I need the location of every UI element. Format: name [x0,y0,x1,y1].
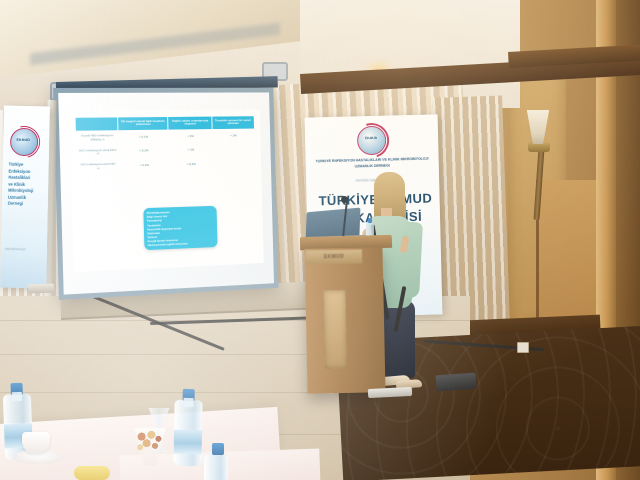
podium [304,247,385,394]
table-cell [213,157,255,172]
banner-left-base [28,284,54,294]
table-row-label: Kronik HBV enfeksiyonu (HBsAg +) [76,131,118,146]
water-bottle [173,400,202,466]
banner-left-line: Dernegi [8,201,44,208]
table-cell: < 1% [169,144,213,159]
banner-right-org: TÜRKIYE ENFEKSIYON HASTALIKLARI VE KLINI… [312,157,433,172]
banner-left-logo-text: EKMUD [13,138,33,142]
conference-room-photo: Bir bagisli olarak ilgili tesadufu bulun… [0,0,640,480]
banner-right-logo-text: EKMUD [360,136,382,141]
floor-equipment [435,373,476,392]
water-bottle [204,454,228,480]
banner-right-subtitle: HIV/AIDS Calisma Grubu [312,177,433,184]
podium-plaque: EKMUD [306,249,362,264]
bottle-neck [12,392,22,401]
table-header-cell: Bir bagisli olarak ilgili tesadufu bulun… [118,117,169,131]
projection-screen: Bir bagisli olarak ilgili tesadufu bulun… [53,88,278,300]
bottle-neck [183,398,193,407]
presentation-slide: Bir bagisli olarak ilgili tesadufu bulun… [70,110,264,272]
banner-left-footer: www.ekmud.org.tr [5,248,43,253]
table-row-label: HCV enfeksiyonu (Anti-HCV +) [77,145,119,160]
banner-left-text: Türkiye Enfeksiyon Hastaliklari ve Klini… [8,162,45,209]
table-cell: < 0,1% [118,144,169,159]
table-cell: < 1% [168,129,212,144]
table-cell: < 1% [212,129,254,144]
table-header-cell: Tesadufu nesnesi bir zarari alinmasi [212,116,254,130]
table-cell: < 0,1% [118,130,169,145]
microphone-icon [341,196,348,203]
table-header-cell [76,117,118,131]
table-cell [213,143,255,158]
table-row-label: HIV enfeksiyonu (Anti-HIV +) [77,160,119,175]
bottle-cap [212,443,224,455]
banner-left: EKMUD Türkiye Enfeksiyon Hastaliklari ve… [0,106,50,289]
table-header-cell: Saglik caliani ortamlarinda degisimi [168,116,212,130]
nuts [136,430,164,452]
table-cell: < 0,1% [119,159,170,174]
projection-screen-surface: Bir bagisli olarak ilgili tesadufu bulun… [58,92,274,294]
slide-callout-box: Kilinik/laboratuvar Bilgi islemci hizi F… [143,206,217,250]
table-cell: < 0,1% [169,158,213,173]
ekmud-logo-icon [357,126,387,156]
table-row: HIV enfeksiyonu (Anti-HIV +) < 0,1% < 0,… [77,157,255,175]
podium-inset-panel [323,290,347,368]
lemon-slice [74,466,110,480]
slide-table: Bir bagisli olarak ilgili tesadufu bulun… [76,116,256,175]
bottle-label [174,430,202,454]
wall-power-outlet-icon [517,342,529,353]
